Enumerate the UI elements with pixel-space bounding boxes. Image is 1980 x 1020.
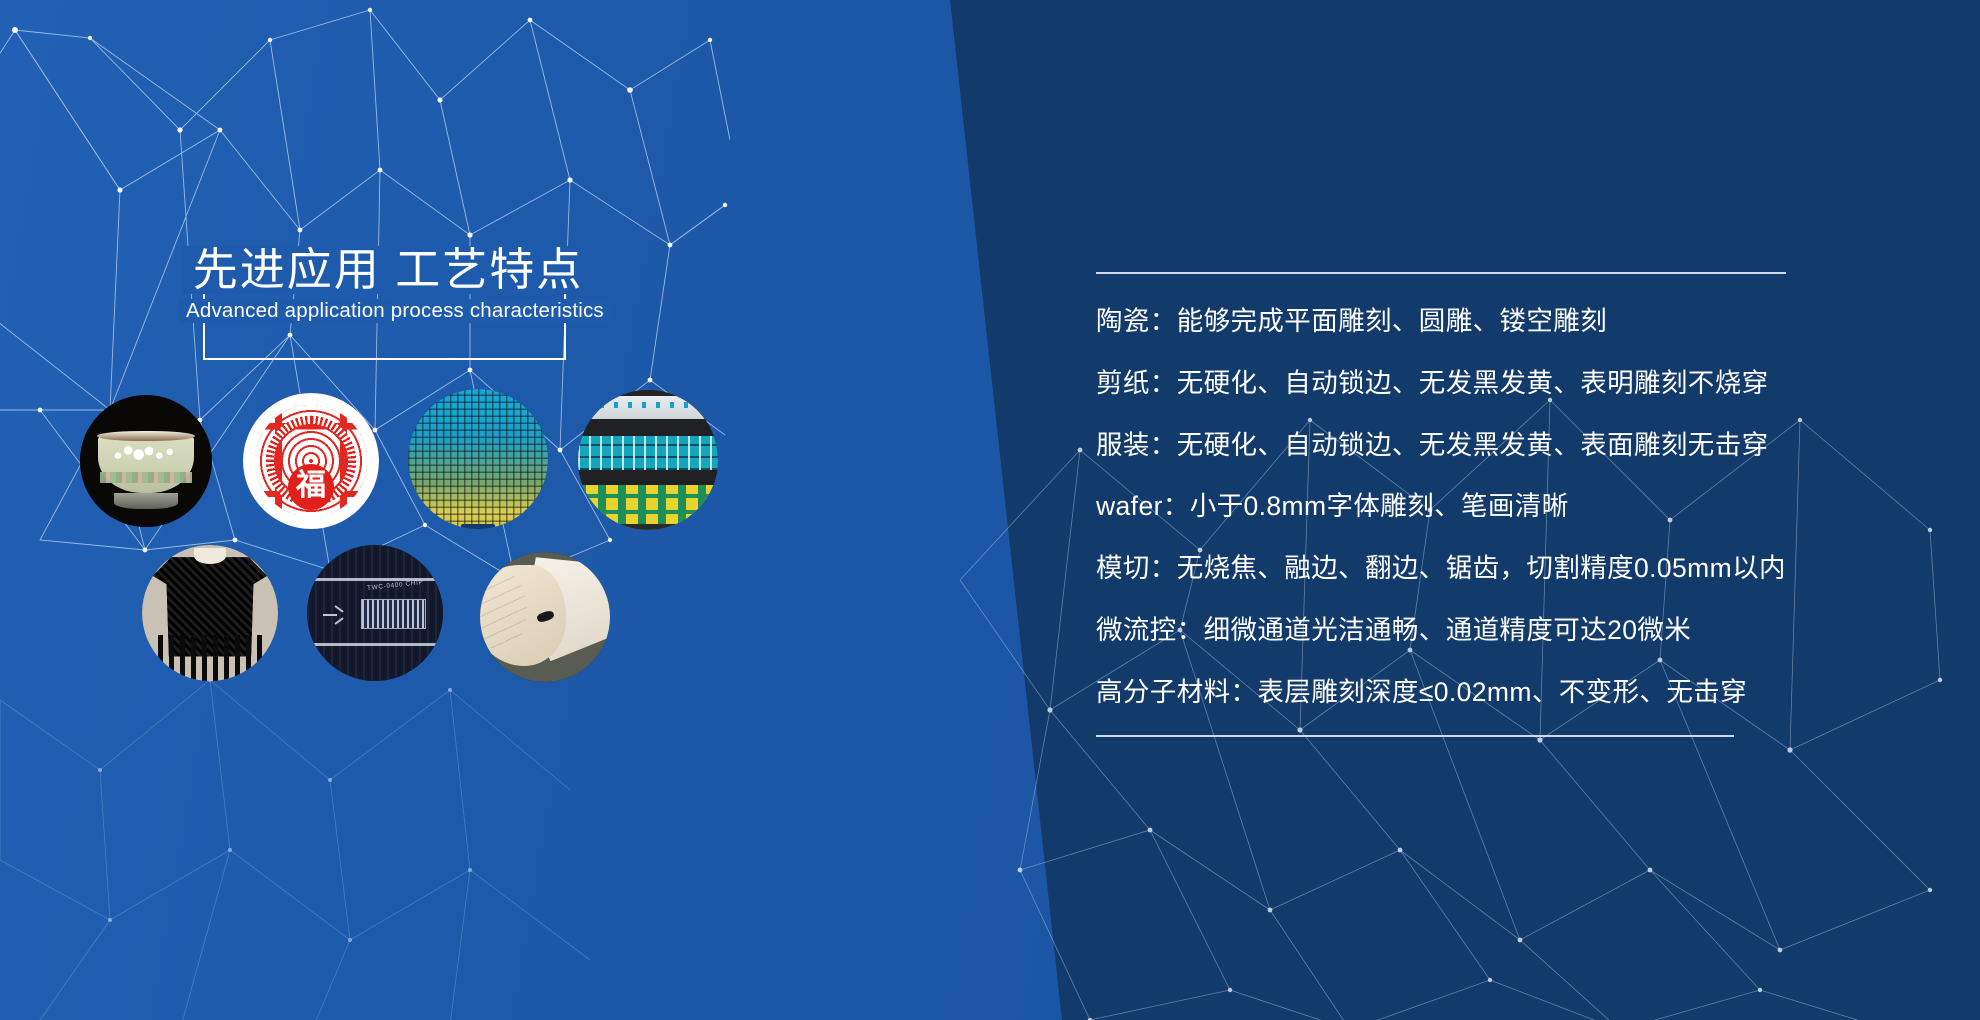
gallery-image-polymer-film-hand [480, 552, 610, 682]
gallery-image-red-papercut-fu: 福 [243, 393, 379, 529]
gallery-image-ceramic-bowl [80, 395, 212, 527]
gallery-image-black-fabric-garment [142, 545, 278, 681]
gallery-image-microfluidic-strip [578, 390, 718, 530]
fabric-artwork [142, 545, 278, 681]
feature-item-papercut: 剪纸：无硬化、自动锁边、无发黑发黄、表明雕刻不烧穿 [1096, 368, 1884, 400]
feature-item-diecut: 模切：无烧焦、融边、翻边、锯齿，切割精度0.05mm以内 [1096, 553, 1884, 585]
feature-item-apparel: 服装：无硬化、自动锁边、无发黑发黄、表面雕刻无击穿 [1096, 430, 1884, 462]
bowl-engraving [109, 443, 183, 464]
strip-band-teal [578, 436, 718, 470]
bowl-rim [97, 431, 195, 440]
papercut-fu-glyph: 福 [243, 471, 379, 501]
wafer-flat-notch [461, 524, 495, 529]
feature-item-wafer: wafer：小于0.8mm字体雕刻、笔画清晰 [1096, 491, 1884, 523]
feature-item-microfluidic: 微流控：细微通道光洁通畅、通道精度可达20微米 [1096, 615, 1884, 647]
image-gallery: 福 [0, 0, 1000, 1020]
feature-panel: 陶瓷：能够完成平面雕刻、圆雕、镂空雕刻 剪纸：无硬化、自动锁边、无发黑发黄、表明… [1096, 272, 1884, 737]
chip-artwork: TWC-0400 CHIP [307, 545, 443, 681]
chip-guide-line-bottom [310, 643, 441, 646]
wafer-artwork [408, 389, 548, 529]
strip-band-base [578, 524, 718, 530]
ceramic-bowl-artwork [80, 395, 212, 527]
chip-channel-array [361, 599, 426, 628]
gallery-image-silicon-wafer [408, 389, 548, 529]
strip-artwork [578, 390, 718, 530]
fabric-laser-cut-fringe [158, 635, 261, 681]
strip-band-white [578, 396, 718, 420]
polymer-film-artwork [480, 552, 610, 682]
bowl-pattern-band [100, 472, 192, 484]
feature-list: 陶瓷：能够完成平面雕刻、圆雕、镂空雕刻 剪纸：无硬化、自动锁边、无发黑发黄、表明… [1096, 306, 1884, 709]
feature-item-polymer: 高分子材料：表层雕刻深度≤0.02mm、不变形、无击穿 [1096, 677, 1884, 709]
strip-band-dark-lower [578, 470, 718, 485]
chip-y-junction [323, 599, 353, 629]
slide-canvas: 先进应用 工艺特点 Advanced application process c… [0, 0, 1980, 1020]
feature-item-ceramic: 陶瓷：能够完成平面雕刻、圆雕、镂空雕刻 [1096, 306, 1884, 338]
strip-dots [586, 402, 709, 408]
divider-bottom [1096, 735, 1734, 737]
divider-top [1096, 272, 1786, 274]
strip-band-yellow [578, 485, 718, 530]
papercut-artwork: 福 [243, 393, 379, 529]
strip-band-dark-upper [578, 419, 718, 436]
fabric-neckline [194, 548, 227, 564]
gallery-image-microfluidic-chip: TWC-0400 CHIP [307, 545, 443, 681]
bowl-foot [114, 493, 177, 509]
